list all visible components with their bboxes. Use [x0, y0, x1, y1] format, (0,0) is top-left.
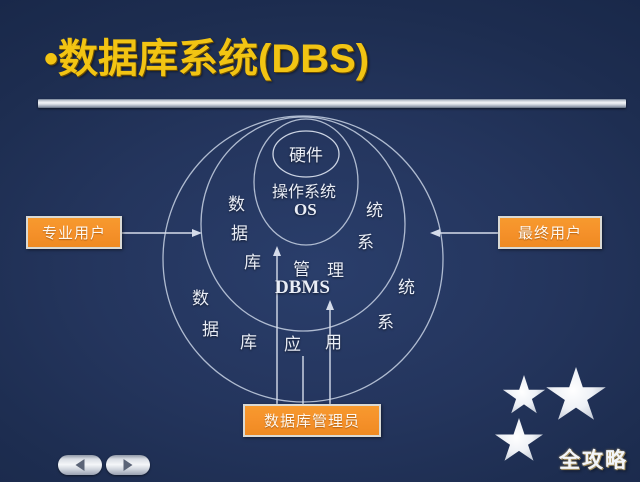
chevron-left-icon — [76, 459, 85, 471]
page-title: •数据库系统(DBS) — [44, 28, 604, 90]
nav-prev-button[interactable] — [58, 455, 102, 475]
presentation-slide: •数据库系统(DBS) — [0, 0, 640, 482]
actor-box-professional-users[interactable]: 专业用户 — [26, 216, 122, 249]
actor-box-end-users[interactable]: 最终用户 — [498, 216, 602, 249]
actor-label-database-administrator: 数据库管理员 — [264, 410, 360, 431]
actor-label-end-users: 最终用户 — [518, 222, 582, 243]
core-circle-hardware — [273, 131, 339, 177]
arrow-professional-users — [122, 229, 202, 237]
dbs-venn-diagram — [0, 104, 640, 434]
page-title-text: •数据库系统(DBS) — [44, 28, 604, 90]
inner-circle-os — [254, 119, 358, 245]
chevron-right-icon — [124, 459, 133, 471]
middle-circle-dbms — [201, 117, 405, 331]
actor-box-database-administrator[interactable]: 数据库管理员 — [243, 404, 381, 437]
watermark-text: 全攻略 — [559, 444, 628, 474]
arrow-dba-to-dbms — [273, 246, 281, 404]
arrow-dba-to-apps — [326, 300, 334, 404]
actor-label-professional-users: 专业用户 — [42, 222, 106, 243]
nav-next-button[interactable] — [106, 455, 150, 475]
